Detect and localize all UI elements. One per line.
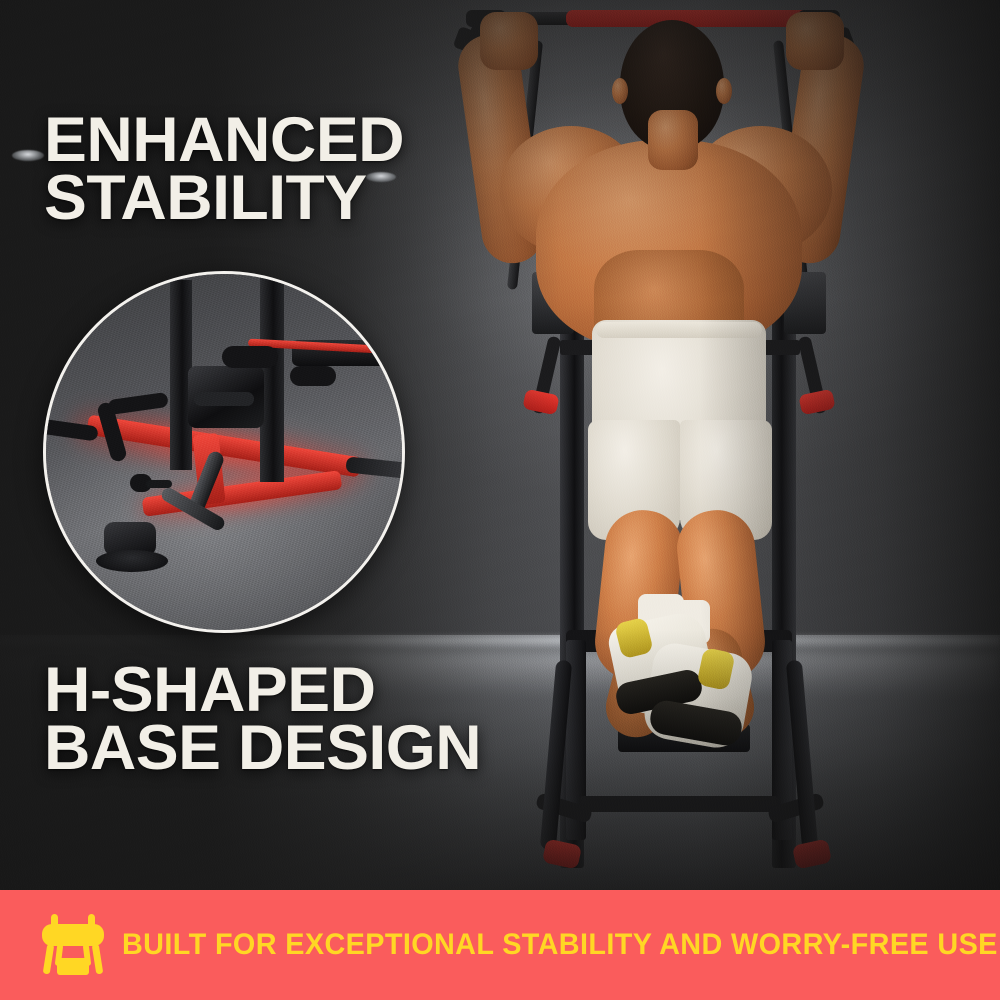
headline-h-shaped-base-design: H-SHAPED BASE DESIGN [44,662,481,778]
product-feature-card: ENHANCED STABILITY H-SHAPED BASE DESIGN … [0,0,1000,1000]
inset-detail-circle[interactable] [43,271,405,633]
hero-photo: ENHANCED STABILITY H-SHAPED BASE DESIGN [0,0,1000,890]
workout-bench-icon [38,914,108,976]
inset-grain-overlay [46,274,402,630]
headline-enhanced-stability: ENHANCED STABILITY [44,112,404,228]
bottom-feature-banner: BUILT FOR EXCEPTIONAL STABILITY AND WORR… [0,890,1000,1000]
light-speck-1 [12,150,44,161]
banner-tagline: BUILT FOR EXCEPTIONAL STABILITY AND WORR… [122,928,998,962]
